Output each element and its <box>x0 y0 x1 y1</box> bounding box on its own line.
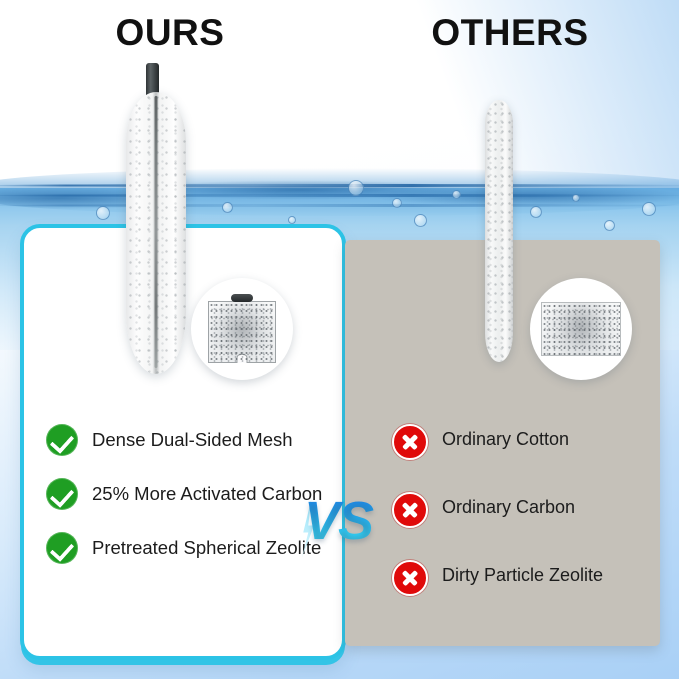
others-feature-label: Dirty Particle Zeolite <box>442 560 603 587</box>
pad-notch-icon <box>237 354 248 363</box>
check-circle-icon <box>46 424 78 456</box>
others-product-inset <box>530 278 632 380</box>
ours-feature-label: 25% More Activated Carbon <box>92 478 322 506</box>
ours-feature-label: Pretreated Spherical Zeolite <box>92 532 321 560</box>
others-feature-label: Ordinary Cotton <box>442 424 569 451</box>
bubble <box>572 194 580 202</box>
others-filter-cartridge <box>485 100 513 362</box>
list-item: Ordinary Carbon <box>392 492 667 528</box>
bubble <box>530 206 542 218</box>
check-circle-icon <box>46 532 78 564</box>
pad-tab-icon <box>231 294 253 302</box>
bubble <box>222 202 233 213</box>
comparison-infographic: OURS OTHERS Dense Dual-Sided Mesh 25% Mo… <box>0 0 679 679</box>
bubble <box>96 206 110 220</box>
others-filter-pad <box>541 302 621 356</box>
cross-circle-icon <box>392 560 428 596</box>
ours-filter-cartridge <box>126 92 186 374</box>
ours-filter-pad <box>208 301 276 363</box>
cross-circle-icon <box>392 424 428 460</box>
bubble <box>288 216 296 224</box>
list-item: Ordinary Cotton <box>392 424 667 460</box>
list-item: 25% More Activated Carbon <box>46 478 336 510</box>
list-item: Dense Dual-Sided Mesh <box>46 424 336 456</box>
bubble <box>604 220 615 231</box>
vs-badge: VS <box>295 487 381 555</box>
cartridge-texture <box>485 100 513 362</box>
wave-line-1 <box>0 184 679 187</box>
others-feature-list: Ordinary Cotton Ordinary Carbon Dirty Pa… <box>392 424 667 596</box>
bubble <box>414 214 427 227</box>
others-feature-label: Ordinary Carbon <box>442 492 575 519</box>
column-title-ours: OURS <box>0 14 340 51</box>
bubble <box>392 198 402 208</box>
ours-feature-list: Dense Dual-Sided Mesh 25% More Activated… <box>46 424 336 564</box>
cartridge-seam <box>155 96 158 368</box>
bubble <box>642 202 656 216</box>
column-title-others: OTHERS <box>340 14 679 51</box>
check-circle-icon <box>46 478 78 510</box>
cross-circle-icon <box>392 492 428 528</box>
bubble <box>452 190 461 199</box>
list-item: Dirty Particle Zeolite <box>392 560 667 596</box>
ours-feature-label: Dense Dual-Sided Mesh <box>92 424 293 452</box>
ours-product-inset <box>191 278 293 380</box>
list-item: Pretreated Spherical Zeolite <box>46 532 336 564</box>
bubble <box>348 180 364 196</box>
